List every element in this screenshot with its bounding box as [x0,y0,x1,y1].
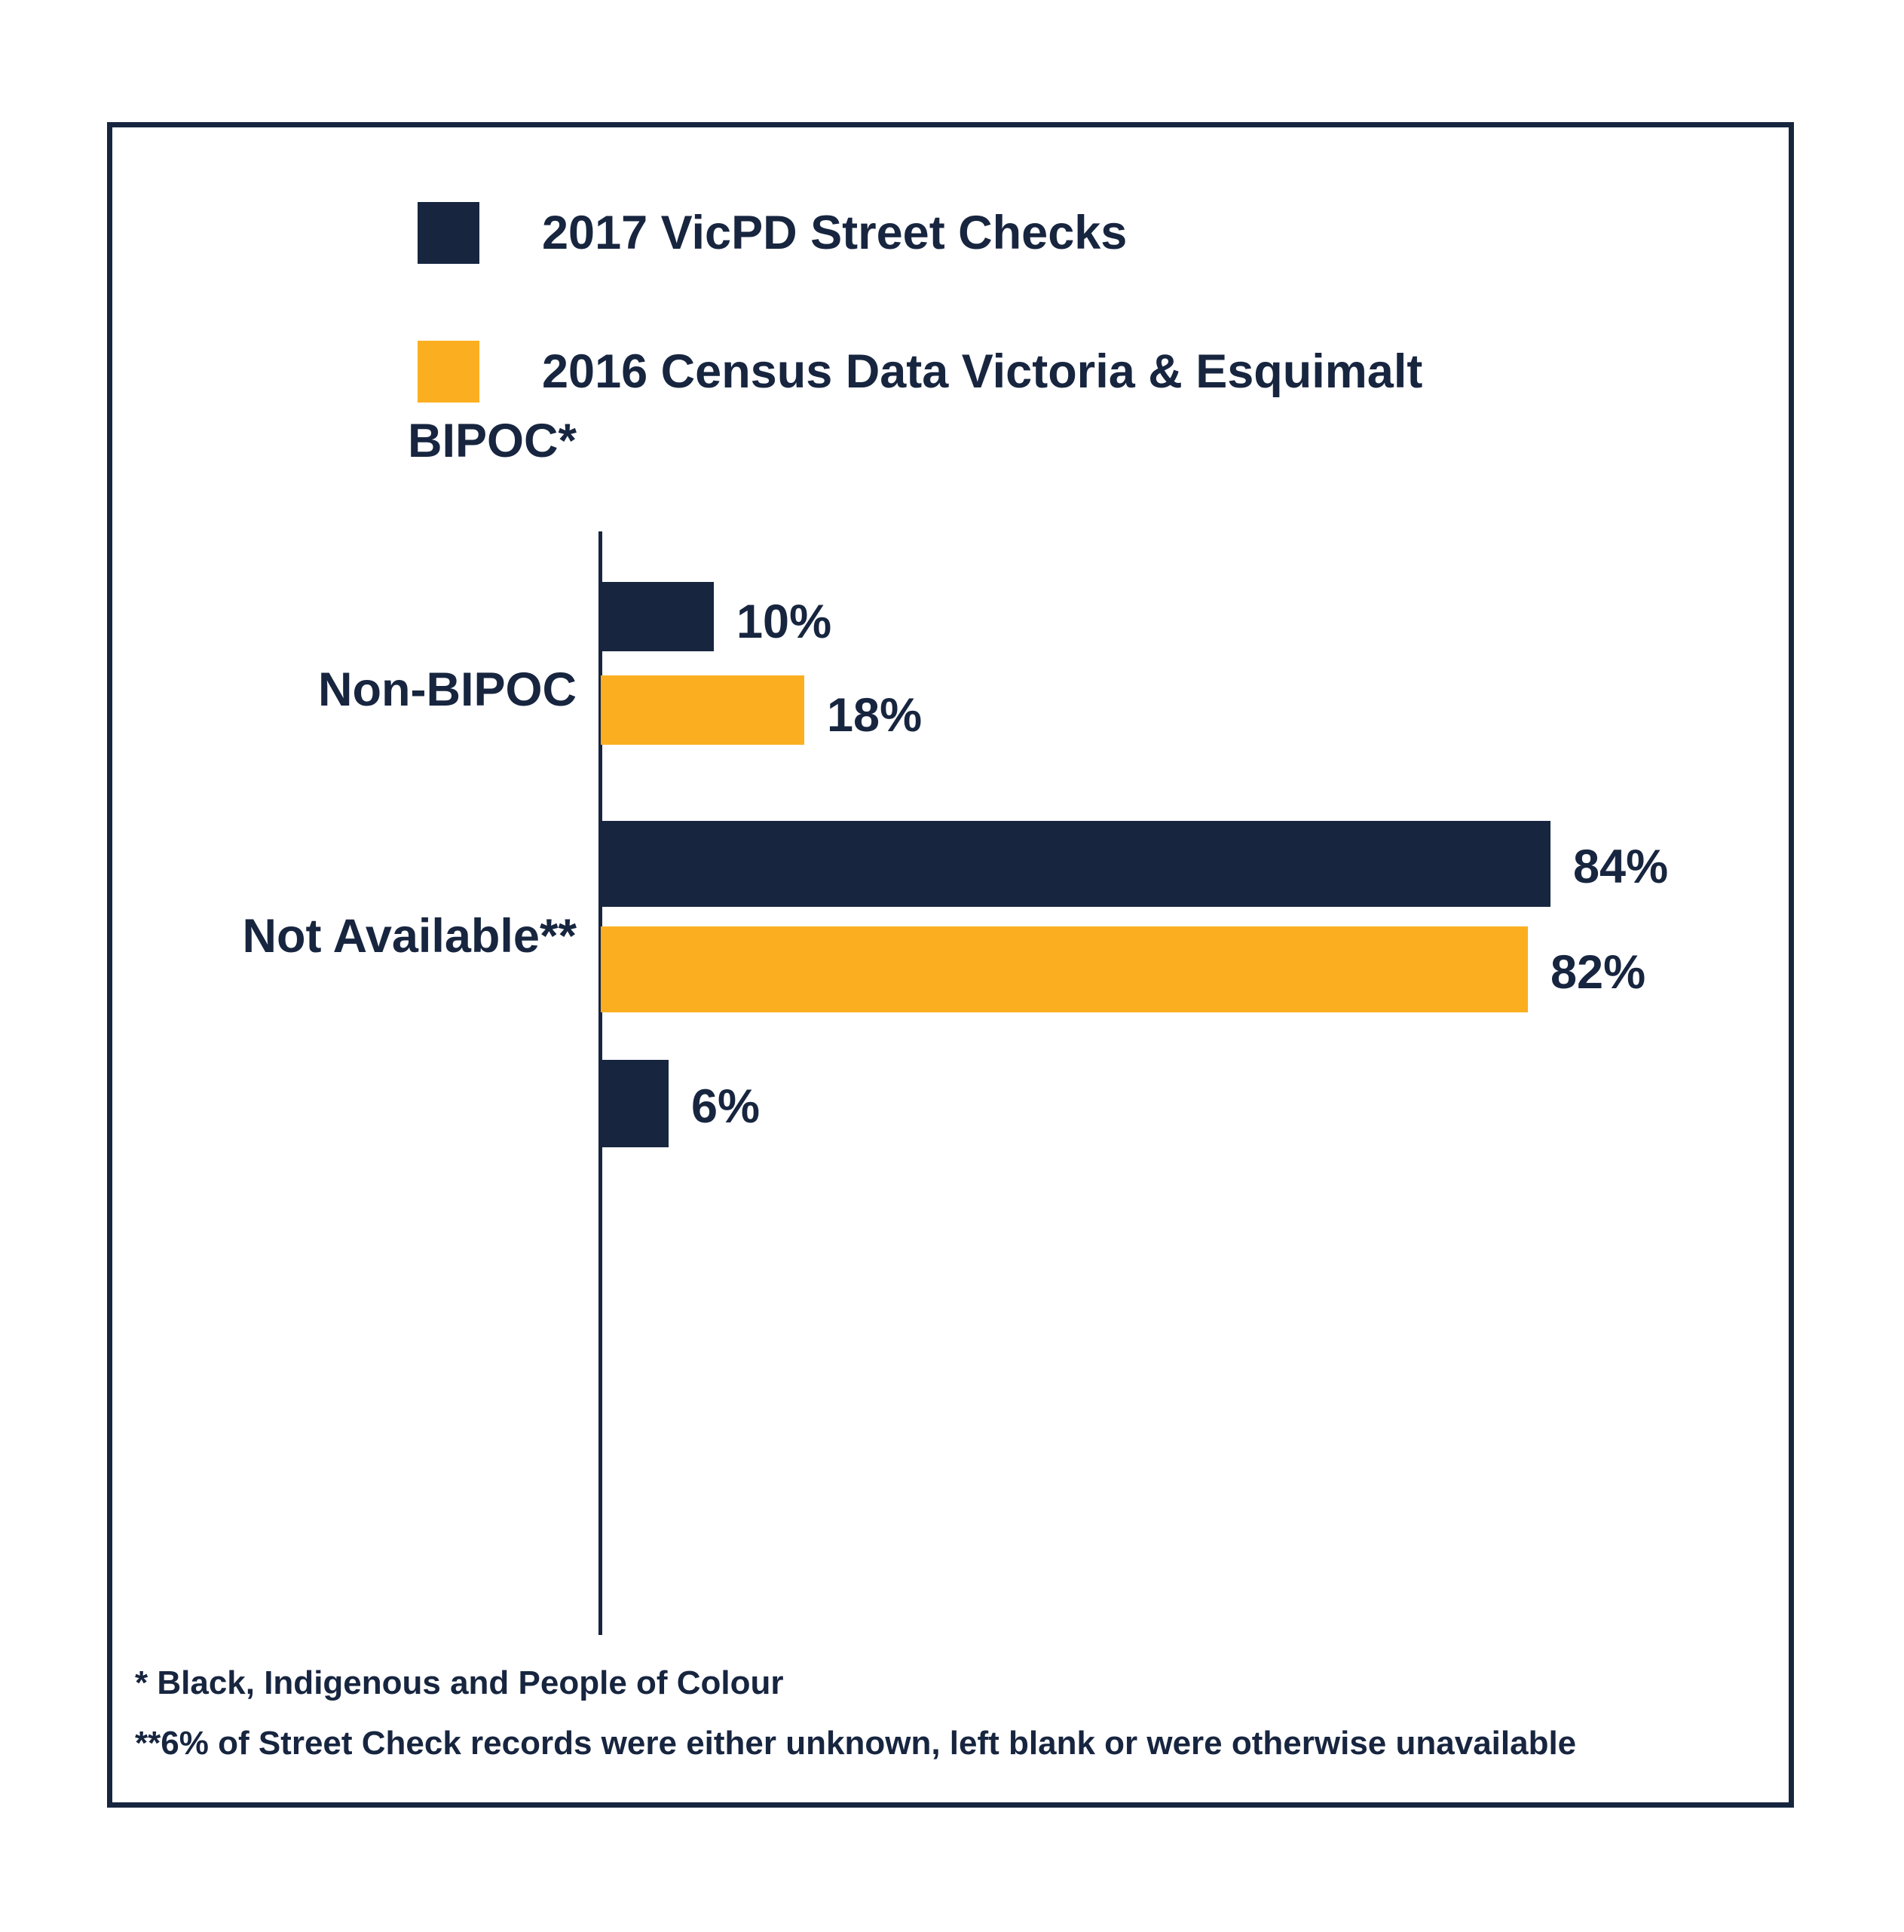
value-label-not-available-street-checks: 6% [691,1083,760,1131]
footnote-not-available-definition: **6% of Street Check records were either… [135,1727,1576,1760]
bar-bipoc-census[interactable] [601,675,804,745]
bar-not-available-street-checks[interactable] [601,1060,669,1147]
category-label-non-bipoc: Non-BIPOC [318,666,577,714]
value-label-bipoc-street-checks: 10% [736,599,831,646]
plot-area: BIPOC* 10% 18% Non-BIPOC 84% 82% Not Ava… [112,127,1789,1802]
value-label-non-bipoc-street-checks: 84% [1573,844,1668,891]
value-label-non-bipoc-census: 82% [1550,949,1645,997]
category-label-bipoc: BIPOC* [408,418,577,465]
footnote-bipoc-definition: * Black, Indigenous and People of Colour [135,1667,1576,1700]
chart-frame: 2017 VicPD Street Checks 2016 Census Dat… [107,122,1794,1808]
bar-non-bipoc-census[interactable] [601,926,1528,1012]
bar-bipoc-street-checks[interactable] [601,582,714,651]
bar-non-bipoc-street-checks[interactable] [601,821,1550,907]
footnotes: * Black, Indigenous and People of Colour… [135,1667,1576,1760]
category-label-not-available: Not Available** [243,913,577,960]
value-label-bipoc-census: 18% [827,692,922,739]
